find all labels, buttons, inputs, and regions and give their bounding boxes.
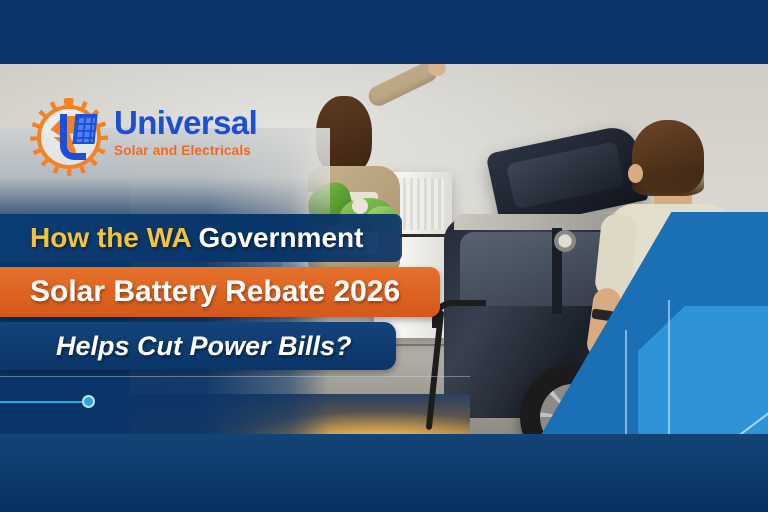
woman-sleeve-cuff	[352, 198, 368, 214]
headline-highlight-wa: How the WA	[30, 222, 199, 253]
headline-line-3-banner: Helps Cut Power Bills?	[0, 322, 396, 370]
brand-tagline: Solar and Electricals	[114, 143, 257, 158]
cyan-accent-dot	[82, 395, 95, 408]
cyan-accent-line	[0, 401, 88, 403]
bottom-blue-band	[0, 434, 768, 512]
headline-word-government: Government	[199, 222, 364, 253]
charging-port	[554, 230, 576, 252]
brand-name: Universal	[114, 106, 257, 139]
horizontal-hairline	[0, 376, 470, 377]
boy-ear	[628, 164, 643, 183]
brand-wordmark: Universal Solar and Electricals	[114, 106, 257, 158]
headline-line-2-text: Solar Battery Rebate 2026	[30, 277, 400, 307]
headline-line-2-banner: Solar Battery Rebate 2026	[0, 267, 440, 317]
headline-line-1: How the WA Government	[0, 214, 402, 262]
headline-stack: How the WA Government Solar Battery Reba…	[0, 214, 470, 370]
headline-line-1-text: How the WA Government	[30, 224, 363, 252]
solar-panel-icon	[72, 114, 97, 144]
promotional-banner: Universal Solar and Electricals How the …	[0, 0, 768, 512]
sun-solar-panel-bolt-logo-icon	[30, 98, 108, 176]
headline-line-3-text: Helps Cut Power Bills?	[56, 333, 352, 360]
brand-logo[interactable]: Universal Solar and Electricals	[30, 98, 290, 180]
top-blue-band	[0, 0, 768, 64]
